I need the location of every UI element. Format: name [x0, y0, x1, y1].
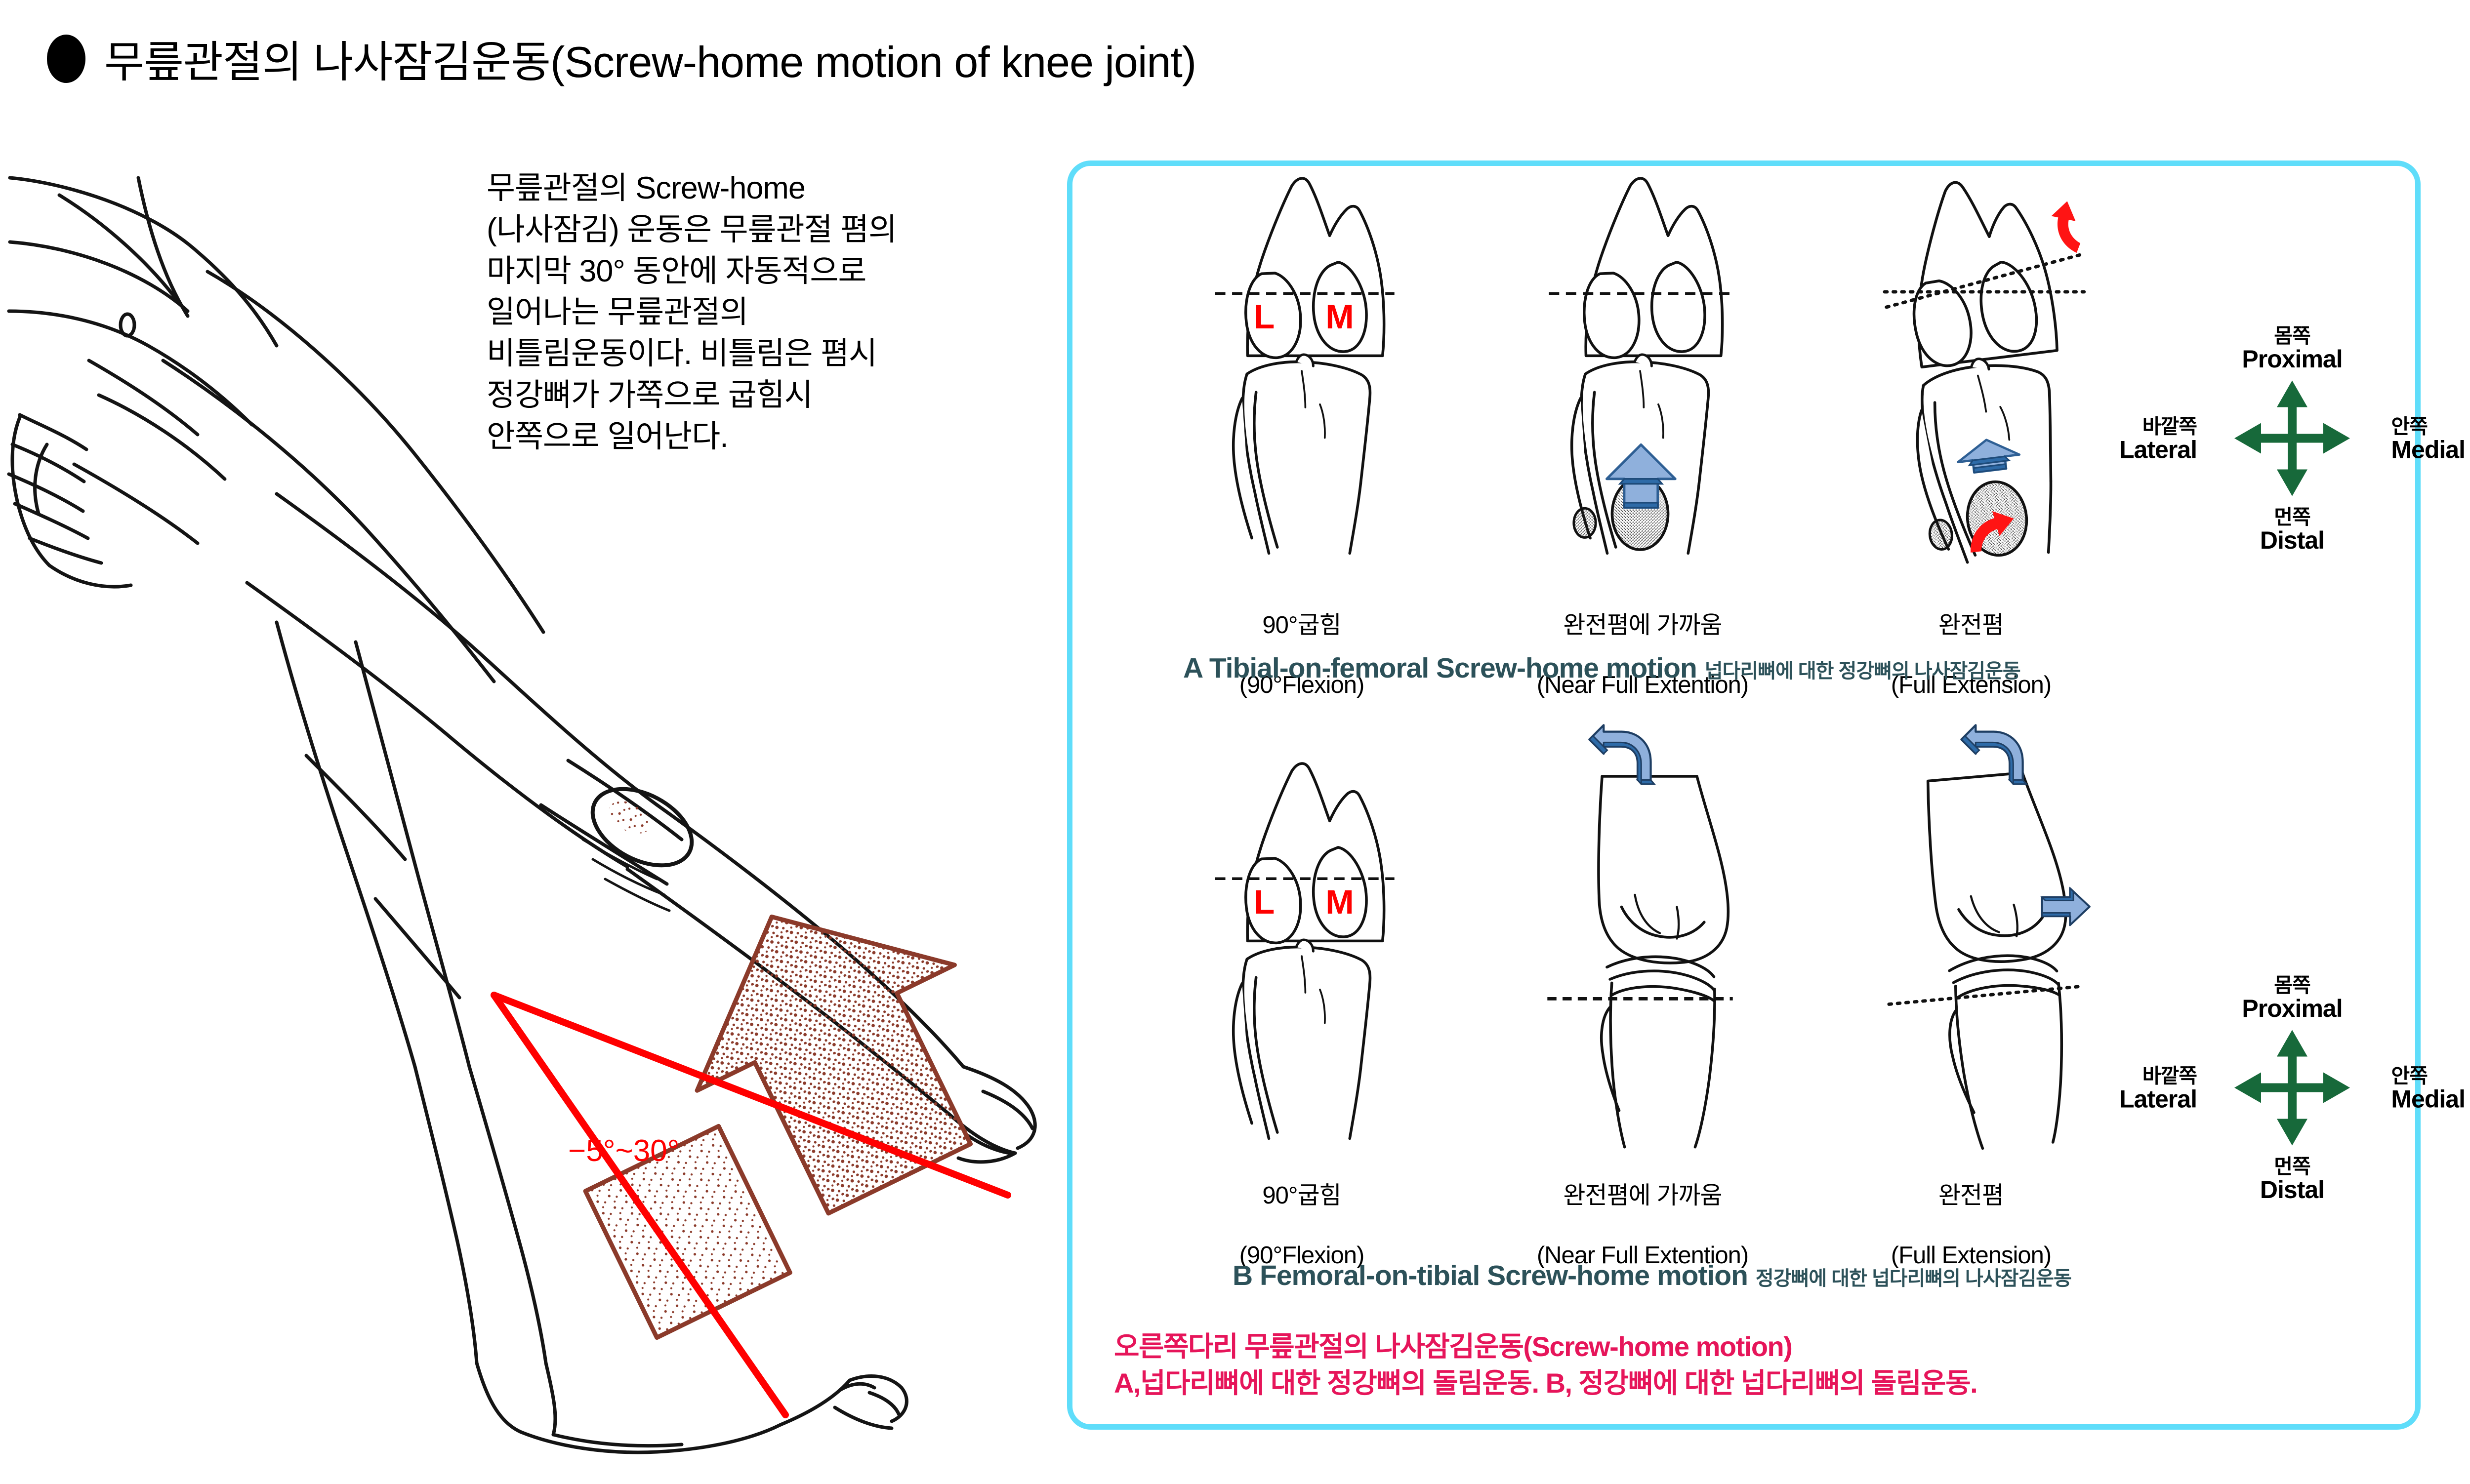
- panel-b-step-3-ko: 완전폄: [1818, 1181, 2124, 1211]
- compass-a-left: 바깥쪽 Lateral: [2119, 417, 2197, 463]
- compass-a-right: 안쪽 Medial: [2391, 417, 2465, 463]
- compass-b-top: 몸쪽 Proximal: [2242, 975, 2342, 1021]
- compass-b-right: 안쪽 Medial: [2391, 1066, 2465, 1112]
- panel-a-caption-en: A Tibial-on-femoral Screw-home motion: [1183, 652, 1697, 684]
- figure-legend-note: 오른쪽다리 무릎관절의 나사잠김운동(Screw-home motion) A,…: [1114, 1328, 1977, 1402]
- compass-b-bottom-en: Distal: [2260, 1177, 2324, 1203]
- compass-a-left-ko: 바깥쪽: [2119, 417, 2197, 438]
- compass-cross-icon-a: [2230, 377, 2354, 503]
- leg-illustration: −5°~30°: [0, 148, 1047, 1482]
- page-title: 무릎관절의 나사잠김운동(Screw-home motion of knee j…: [47, 27, 1196, 90]
- panel-a-step-3-ko: 완전폄: [1818, 610, 2124, 641]
- reference-line-rotated: [1889, 987, 2079, 1004]
- compass-b-left: 바깥쪽 Lateral: [2119, 1066, 2197, 1112]
- panel-a-caption-ko: 넙다리뼈에 대한 정강뼈의 나사잠김운동: [1705, 660, 2020, 682]
- panel-a-step-2-ko: 완전폄에 가까움: [1462, 610, 1823, 641]
- flexion-angle-label: −5°~30°: [568, 1133, 679, 1168]
- panel-b-step-2-ko: 완전폄에 가까움: [1462, 1181, 1823, 1211]
- compass-a-top-en: Proximal: [2242, 347, 2342, 372]
- compass-a-right-en: Medial: [2391, 437, 2465, 462]
- svg-text:M: M: [1325, 883, 1354, 921]
- panel-b-figure-1: L M: [1131, 756, 1472, 1151]
- compass-b-right-ko: 안쪽: [2391, 1066, 2465, 1087]
- panel-b-step-1-ko: 90°굽힘: [1156, 1181, 1447, 1211]
- svg-text:L: L: [1254, 883, 1275, 921]
- leg-outline-group: [9, 178, 1035, 1452]
- compass-a-top-ko: 몸쪽: [2242, 326, 2342, 347]
- compass-b-right-en: Medial: [2391, 1086, 2465, 1112]
- panel-b-caption-en: B Femoral-on-tibial Screw-home motion: [1233, 1260, 1748, 1291]
- compass-b-bottom: 먼쪽 Distal: [2260, 1157, 2324, 1203]
- panel-a-figure-1: L M: [1131, 170, 1472, 565]
- compass-b-top-ko: 몸쪽: [2242, 975, 2342, 996]
- compass-cross-icon-b: [2230, 1026, 2354, 1152]
- title-bullet-icon: [47, 35, 85, 83]
- panel-b-caption-ko: 정강뼈에 대한 넙다리뼈의 나사잠김운동: [1756, 1268, 2071, 1289]
- compass-b-top-en: Proximal: [2242, 996, 2342, 1021]
- compass-a-bottom: 먼쪽 Distal: [2260, 507, 2324, 553]
- panel-b-figure-2: [1462, 719, 1818, 1153]
- orientation-compass-a: 몸쪽 Proximal 먼쪽 Distal 바깥쪽 Lateral 안쪽 Med…: [2119, 326, 2465, 553]
- compass-a-left-en: Lateral: [2119, 437, 2197, 462]
- page-title-text: 무릎관절의 나사잠김운동(Screw-home motion of knee j…: [104, 27, 1196, 90]
- compass-a-right-ko: 안쪽: [2391, 417, 2465, 438]
- compass-a-bottom-ko: 먼쪽: [2260, 507, 2324, 528]
- panel-a-figure-3: [1798, 163, 2174, 568]
- red-rotation-arrow-top: [2045, 199, 2089, 253]
- panel-b-caption: B Femoral-on-tibial Screw-home motion정강뼈…: [1233, 1259, 2071, 1292]
- orientation-compass-b: 몸쪽 Proximal 먼쪽 Distal 바깥쪽 Lateral 안쪽 Med…: [2119, 975, 2465, 1203]
- compass-a-top: 몸쪽 Proximal: [2242, 326, 2342, 372]
- svg-text:M: M: [1325, 298, 1354, 336]
- compass-b-left-ko: 바깥쪽: [2119, 1066, 2197, 1087]
- svg-text:L: L: [1254, 298, 1275, 336]
- compass-b-left-en: Lateral: [2119, 1086, 2197, 1112]
- panel-a-step-1-ko: 90°굽힘: [1156, 610, 1447, 641]
- compass-a-bottom-en: Distal: [2260, 528, 2324, 553]
- compass-b-bottom-ko: 먼쪽: [2260, 1157, 2324, 1177]
- panel-a-caption: A Tibial-on-femoral Screw-home motion넙다리…: [1183, 652, 2020, 684]
- panel-a-figure-2: [1462, 170, 1818, 565]
